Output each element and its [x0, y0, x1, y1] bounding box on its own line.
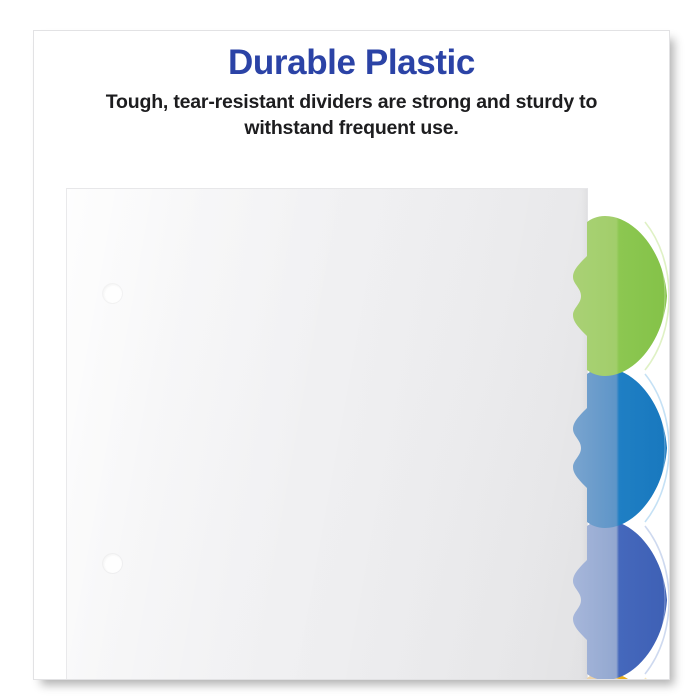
blue-tab-shape [549, 368, 669, 528]
page-title: Durable Plastic [34, 43, 669, 82]
header-block: Durable Plastic Tough, tear-resistant di… [34, 43, 669, 142]
green-tab[interactable] [549, 216, 669, 376]
tab-stack [549, 188, 669, 679]
divider-sheet [66, 188, 588, 680]
product-image-card: Durable Plastic Tough, tear-resistant di… [33, 30, 670, 680]
top-punch-hole [103, 284, 122, 303]
screenshot-stage: Durable Plastic Tough, tear-resistant di… [0, 0, 700, 700]
blue-tab[interactable] [549, 368, 669, 528]
green-tab-shape [549, 216, 669, 376]
sheet-sheen [67, 189, 587, 680]
indigo-tab-shape [549, 520, 669, 680]
page-subtitle: Tough, tear-resistant dividers are stron… [67, 90, 637, 142]
indigo-tab[interactable] [549, 520, 669, 680]
bottom-punch-hole [103, 554, 122, 573]
